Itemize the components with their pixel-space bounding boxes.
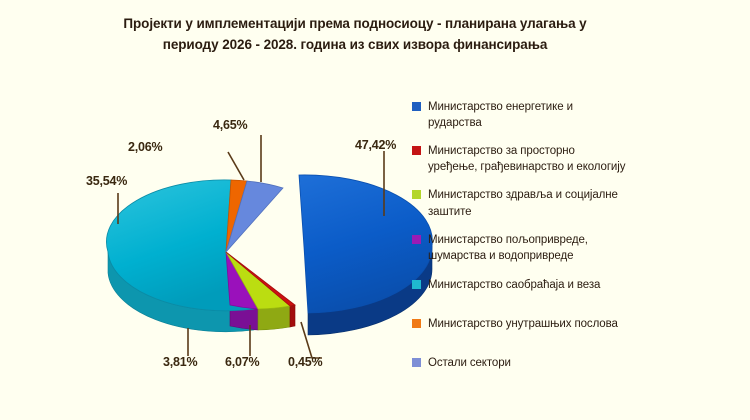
legend-swatch-icon (412, 358, 421, 367)
legend-swatch-icon (412, 235, 421, 244)
legend-swatch-icon (412, 102, 421, 111)
legend-item-unutrasnjih[interactable]: Министарство унутрашњих послова (412, 316, 742, 332)
pct-label-prostorno: 0,45% (288, 355, 322, 369)
pct-label-zdravlja: 6,07% (225, 355, 259, 369)
legend-item-ostali[interactable]: Остали сектори (412, 355, 742, 371)
chart-legend: Министарство енергетике ирударства Минис… (412, 99, 742, 383)
legend-item-saobracaja[interactable]: Министарство саобраћаја и веза (412, 277, 742, 293)
legend-item-prostorno[interactable]: Министарство за просторноуређење, грађев… (412, 143, 742, 176)
pct-label-saobracaja: 35,54% (86, 174, 127, 188)
legend-label: Министарство пољопривреде,шумарства и во… (428, 232, 588, 265)
legend-item-energetike[interactable]: Министарство енергетике ирударства (412, 99, 742, 132)
legend-label: Министарство за просторноуређење, грађев… (428, 143, 625, 176)
legend-label: Министарство унутрашњих послова (428, 316, 618, 332)
pct-label-energetike: 47,42% (355, 138, 396, 152)
leader-line-unutrasnjih (228, 152, 244, 180)
pct-label-ostali: 4,65% (213, 118, 247, 132)
pct-label-poljoprivrede: 3,81% (163, 355, 197, 369)
legend-label: Министарство енергетике ирударства (428, 99, 573, 132)
legend-swatch-icon (412, 280, 421, 289)
legend-swatch-icon (412, 319, 421, 328)
legend-label: Министарство саобраћаја и веза (428, 277, 600, 293)
pie-chart-figure: Пројекти у имплементацији према подносио… (0, 0, 750, 420)
legend-swatch-icon (412, 190, 421, 199)
legend-label: Министарство здравља и социјалнезаштите (428, 187, 618, 220)
pct-label-unutrasnjih: 2,06% (128, 140, 162, 154)
legend-item-poljoprivrede[interactable]: Министарство пољопривреде,шумарства и во… (412, 232, 742, 265)
legend-item-zdravlja[interactable]: Министарство здравља и социјалнезаштите (412, 187, 742, 220)
legend-label: Остали сектори (428, 355, 511, 371)
legend-swatch-icon (412, 146, 421, 155)
